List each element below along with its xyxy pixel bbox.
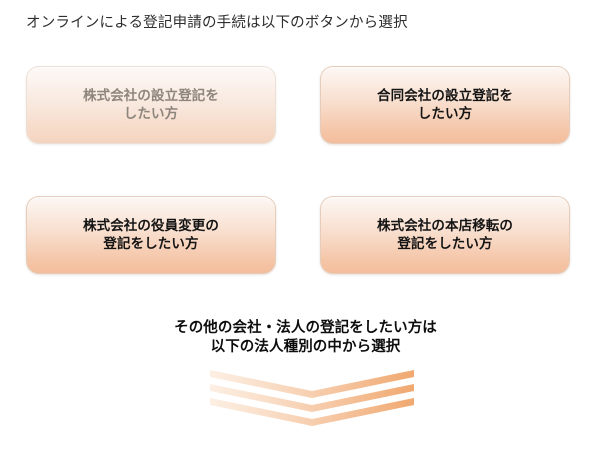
chevron-down-triple-icon (210, 368, 414, 426)
button-kabushiki-kaisha-honten-iten-touki[interactable]: 株式会社の本店移転の 登記をしたい方 (320, 196, 570, 274)
button-kabushiki-kaisha-yakuin-henko-touki[interactable]: 株式会社の役員変更の 登記をしたい方 (26, 196, 276, 274)
button-label: 株式会社の設立登記を したい方 (77, 87, 225, 123)
button-label-line1: 株式会社の設立登記を (83, 88, 219, 103)
button-label-line1: 合同会社の設立登記を (377, 88, 513, 103)
caption-line2: 以下の法人種別の中から選択 (0, 338, 611, 357)
button-label: 株式会社の本店移転の 登記をしたい方 (371, 217, 519, 253)
other-corporations-caption: その他の会社・法人の登記をしたい方は 以下の法人種別の中から選択 (0, 319, 611, 357)
button-kabushiki-kaisha-setsuritsu-touki[interactable]: 株式会社の設立登記を したい方 (26, 66, 276, 144)
button-label-line1: 株式会社の役員変更の (83, 218, 219, 233)
button-label-line2: したい方 (418, 106, 472, 121)
button-label: 合同会社の設立登記を したい方 (371, 87, 519, 123)
caption-line1: その他の会社・法人の登記をしたい方は (0, 319, 611, 338)
button-label-line2: 登記をしたい方 (103, 236, 198, 251)
chevron-down-triple-svg (210, 368, 414, 426)
button-godo-kaisha-setsuritsu-touki[interactable]: 合同会社の設立登記を したい方 (320, 66, 570, 144)
button-label-line2: したい方 (124, 106, 178, 121)
page-root: オンラインによる登記申請の手続は以下のボタンから選択 株式会社の設立登記を した… (0, 0, 611, 452)
button-label-line2: 登記をしたい方 (397, 236, 492, 251)
button-label-line1: 株式会社の本店移転の (377, 218, 513, 233)
button-label: 株式会社の役員変更の 登記をしたい方 (77, 217, 225, 253)
page-header-instruction: オンラインによる登記申請の手続は以下のボタンから選択 (26, 13, 408, 33)
